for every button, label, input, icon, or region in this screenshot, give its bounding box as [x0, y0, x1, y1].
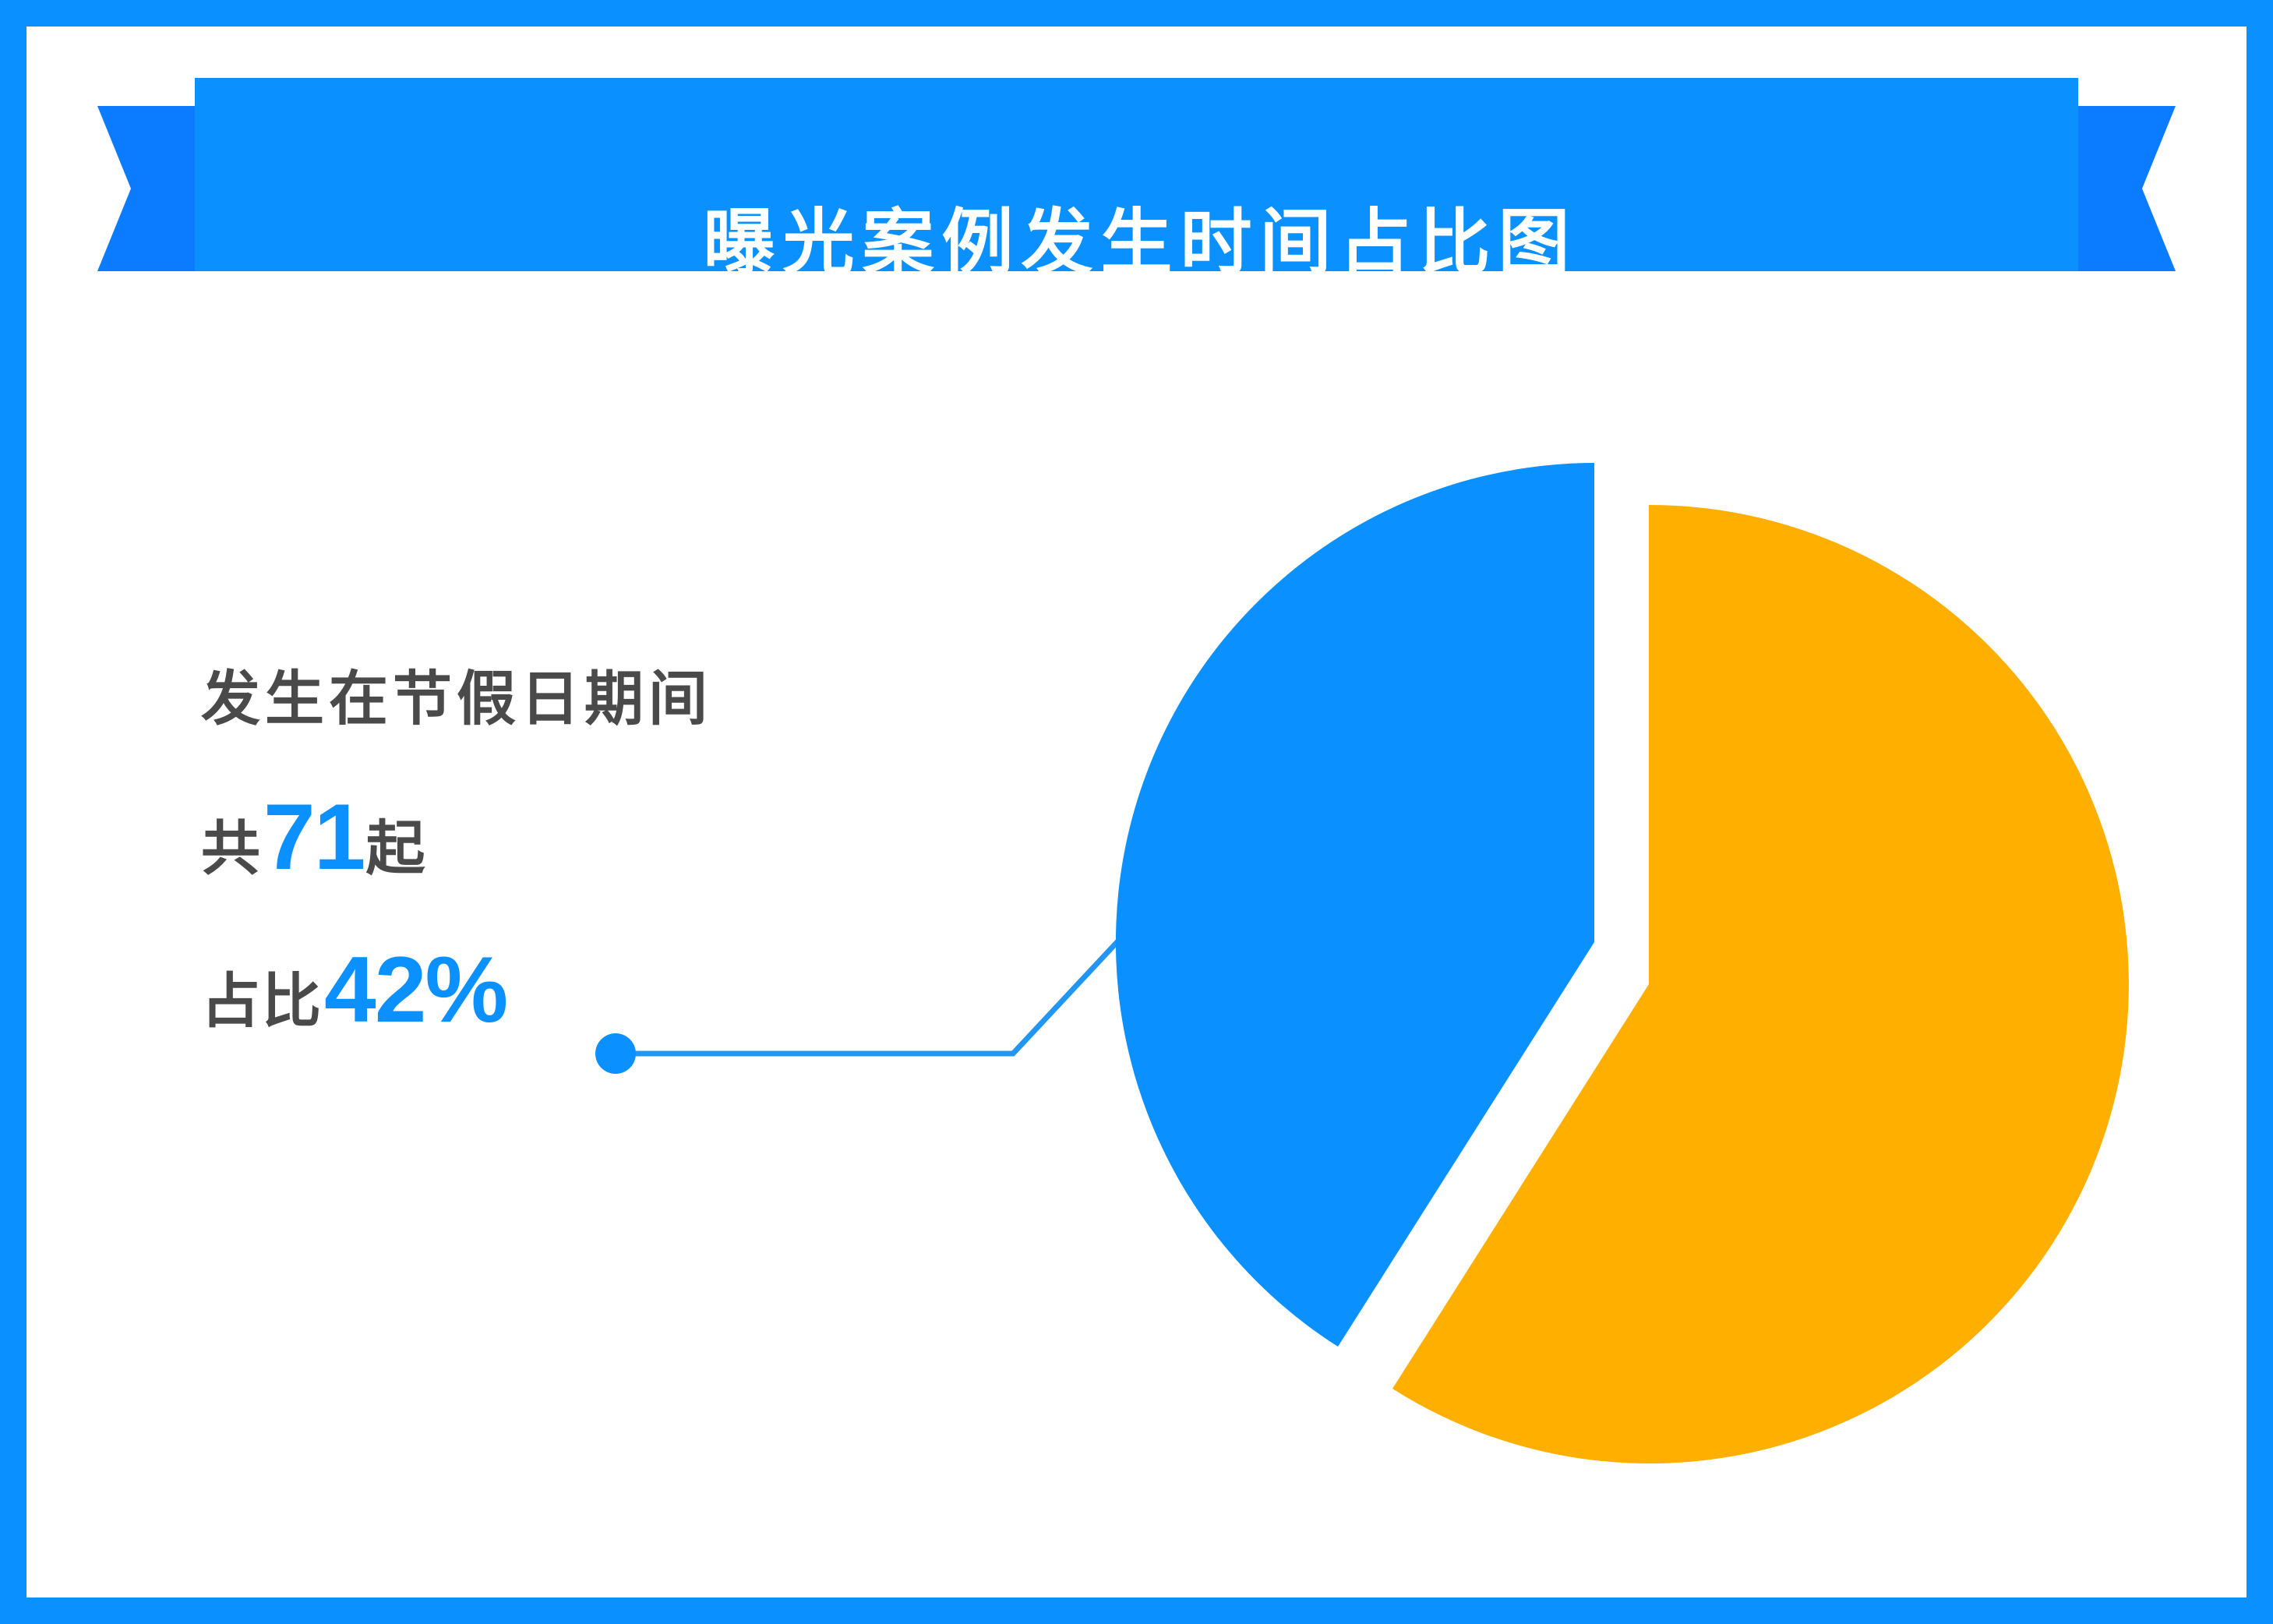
ribbon-tail-left: [97, 106, 195, 271]
stats-share-label: 占比: [201, 973, 323, 1032]
leader-dot: [595, 1033, 636, 1074]
infographic-poster: 曝光案例发生时间占比图 发生在节假日期间 共 71 起 占比 42%: [0, 0, 2273, 1624]
stats-count-value: 71: [263, 790, 364, 884]
leader-line: [617, 937, 1122, 1054]
stats-count-unit: 起: [365, 820, 425, 879]
ribbon-tail-right: [2078, 106, 2176, 271]
pie-chart: [1075, 405, 2166, 1520]
stats-count-label: 共: [201, 820, 262, 879]
stats-share-value: 42%: [324, 943, 506, 1036]
page-title: 曝光案例发生时间占比图: [195, 147, 2078, 340]
title-ribbon: 曝光案例发生时间占比图: [0, 69, 2273, 287]
stats-heading: 发生在节假日期间: [201, 670, 980, 729]
